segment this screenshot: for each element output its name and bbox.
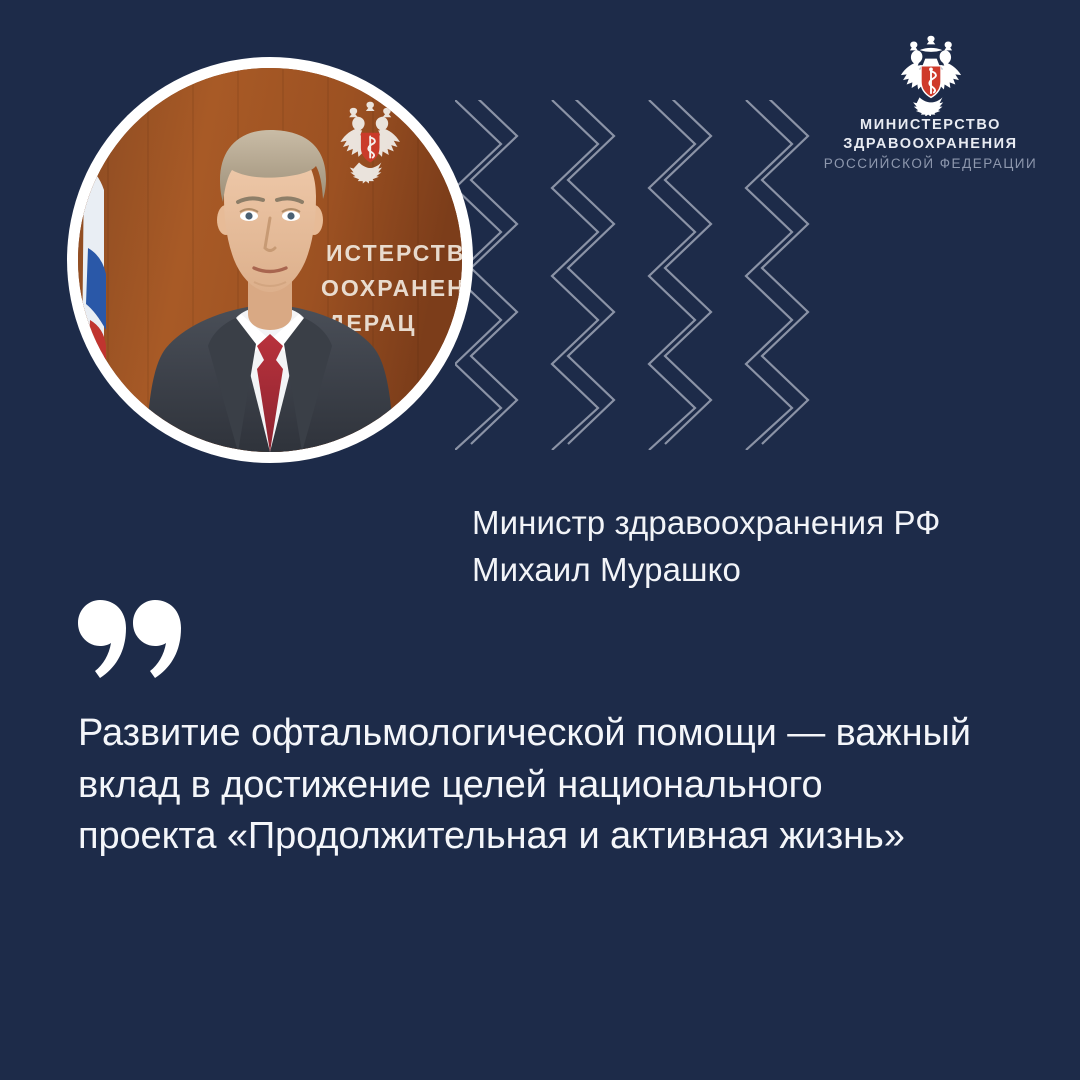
svg-text:ООХРАНЕНИЯ: ООХРАНЕНИЯ [321,275,462,301]
quote-line-3: проекта «Продолжительная и активная жизн… [78,811,1028,863]
speaker-role: Министр здравоохранения РФ [472,500,1042,547]
quote-mark-icon [78,598,188,678]
quote-line-1: Развитие офтальмологической помощи — важ… [78,708,1028,760]
svg-text:ИСТЕРСТВО: ИСТЕРСТВО [326,240,462,266]
chevron-pattern-decoration [455,100,875,450]
quote-card: МИНИСТЕРСТВО ЗДРАВООХРАНЕНИЯ РОССИЙСКОЙ … [0,0,1080,1080]
logo-line-ministry: МИНИСТЕРСТВО [823,116,1038,135]
portrait-ring: ИСТЕРСТВО ООХРАНЕНИЯ ДЕРАЦ [67,57,473,463]
avatar: ИСТЕРСТВО ООХРАНЕНИЯ ДЕРАЦ [78,68,462,452]
speaker-name: Михаил Мурашко [472,547,1042,594]
logo-line-federation: РОССИЙСКОЙ ФЕДЕРАЦИИ [823,155,1038,173]
speaker-caption: Министр здравоохранения РФ Михаил Мурашк… [472,500,1042,594]
ministry-logo: МИНИСТЕРСТВО ЗДРАВООХРАНЕНИЯ РОССИЙСКОЙ … [823,30,1038,173]
russia-health-ministry-emblem-icon [823,30,1038,116]
portrait-photo: ИСТЕРСТВО ООХРАНЕНИЯ ДЕРАЦ [78,68,462,452]
quote-line-2: вклад в достижение целей национального [78,760,1028,812]
quote-text: Развитие офтальмологической помощи — важ… [78,708,1028,863]
logo-line-healthcare: ЗДРАВООХРАНЕНИЯ [823,135,1038,154]
